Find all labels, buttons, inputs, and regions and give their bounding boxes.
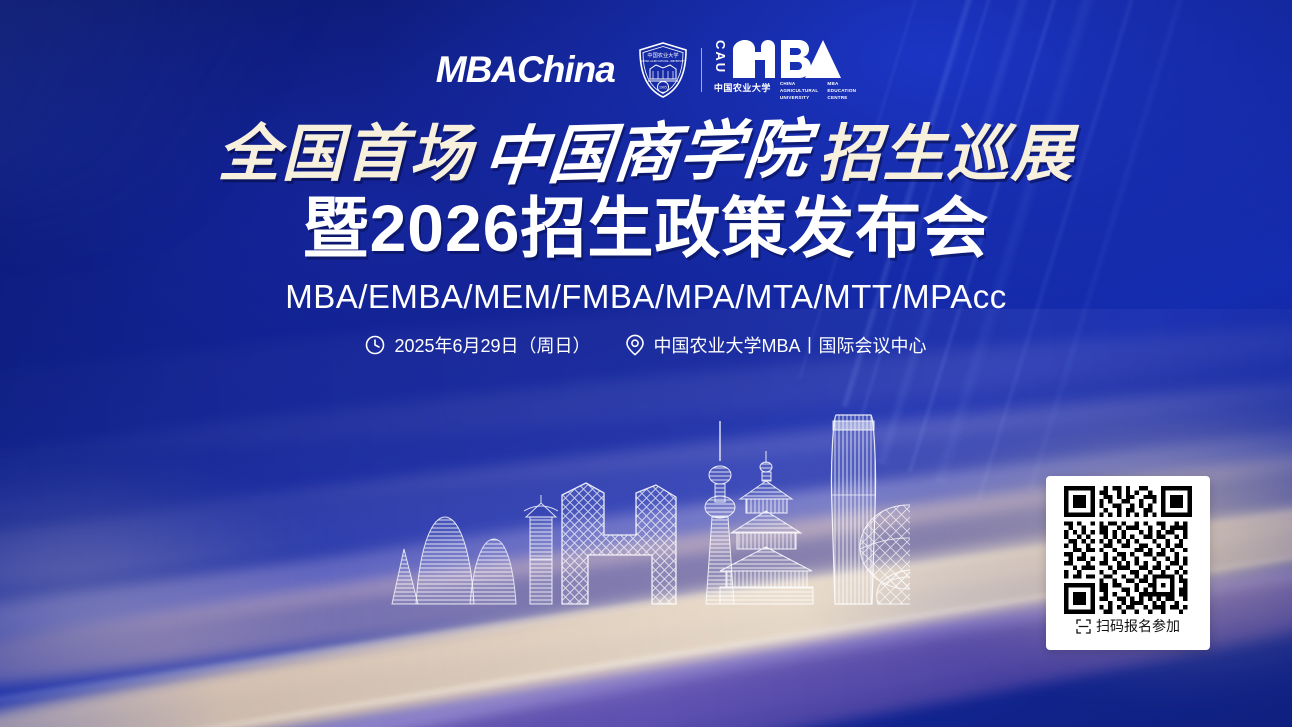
event-venue: 中国农业大学MBA丨国际会议中心 <box>654 332 927 358</box>
logo-divider <box>701 48 702 92</box>
event-meta: 2025年6月29日（周日） 中国农业大学MBA丨国际会议中心 <box>0 332 1292 358</box>
event-venue-item: 中国农业大学MBA丨国际会议中心 <box>625 332 927 358</box>
event-date: 2025年6月29日（周日） <box>394 332 590 358</box>
qr-caption-text: 扫码报名参加 <box>1096 616 1180 636</box>
event-date-item: 2025年6月29日（周日） <box>365 332 590 358</box>
background-glow-bottom-left <box>0 469 337 727</box>
svg-text:中国农业大学: 中国农业大学 <box>647 51 678 59</box>
mbachina-logo[interactable]: MBAChina <box>436 49 615 91</box>
cau-vertical-text: CAU <box>714 40 727 78</box>
beijing-skyline-illustration <box>390 399 910 609</box>
cau-name-cn: 中国农业大学 <box>714 81 771 94</box>
qr-registration-card[interactable]: 扫码报名参加 <box>1046 476 1210 650</box>
headline-line-1: 全国首场 中国商学院 招生巡展 <box>0 120 1292 187</box>
clock-icon <box>365 335 385 355</box>
headline-line1-part2: 招生巡展 <box>819 122 1075 187</box>
program-list: MBA/EMBA/MEM/FMBA/MPA/MTA/MTT/MPAcc <box>0 278 1292 316</box>
headline-line-2: 暨2026招生政策发布会 <box>0 193 1292 264</box>
location-pin-icon <box>625 334 645 356</box>
cau-shield-icon: 中国农业大学 CHINA AGRICULTURAL UNIVERSITY 190… <box>637 41 689 99</box>
cau-en-line-2: MBA EDUCATION CENTRE <box>827 81 856 102</box>
qr-caption-row: 扫码报名参加 <box>1076 616 1180 636</box>
headline-block: 全国首场 中国商学院 招生巡展 暨2026招生政策发布会 MBA/EMBA/ME… <box>0 120 1292 358</box>
cau-logo-block[interactable]: 中国农业大学 CHINA AGRICULTURAL UNIVERSITY 190… <box>637 38 856 102</box>
cau-mba-lockup: CAU 中国农业大学 CHINA AGRICULTURAL UNIVERSITY… <box>714 38 856 102</box>
cau-en-line-1: CHINA AGRICULTURAL UNIVERSITY <box>780 81 819 102</box>
scan-frame-icon <box>1076 619 1091 634</box>
headline-line1-part1: 全国首场 <box>217 122 473 187</box>
svg-text:CHINA AGRICULTURAL UNIVERSITY: CHINA AGRICULTURAL UNIVERSITY <box>641 59 685 63</box>
svg-text:1905: 1905 <box>659 85 667 89</box>
logo-row: MBAChina 中国农业大学 CHINA AGRICULTURAL UNIVE… <box>0 38 1292 102</box>
headline-brush-text: 中国商学院 <box>480 116 812 192</box>
promo-banner: MBAChina 中国农业大学 CHINA AGRICULTURAL UNIVE… <box>0 0 1292 727</box>
cau-mba-mark <box>731 38 843 78</box>
qr-code-image[interactable] <box>1058 486 1198 614</box>
